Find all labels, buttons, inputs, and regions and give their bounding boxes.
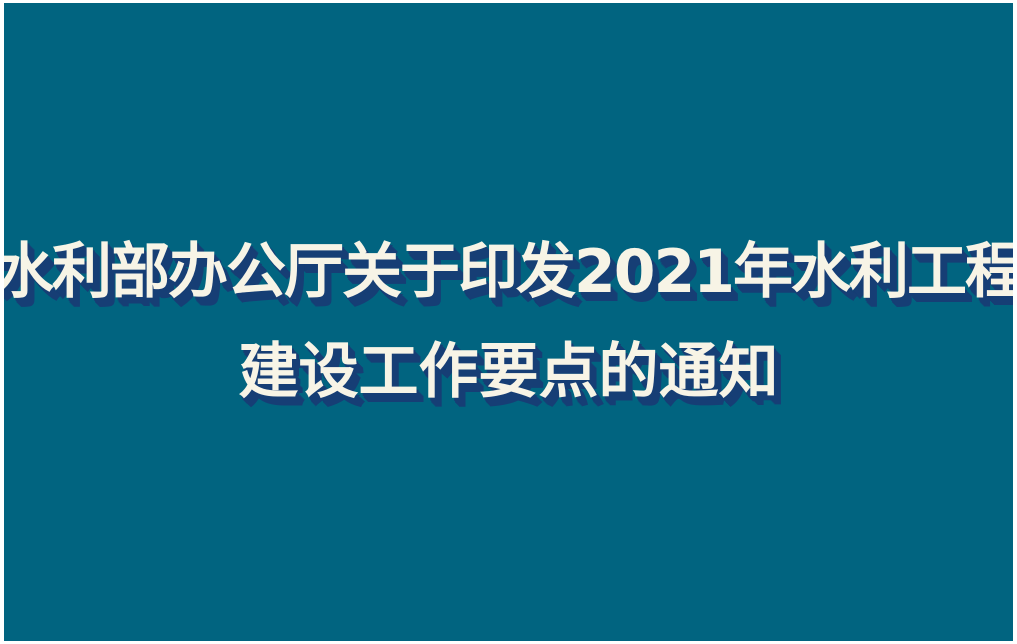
title-block: 水利部办公厅关于印发2021年水利工程 建设工作要点的通知 <box>4 3 1013 641</box>
poster-canvas: 水利部办公厅关于印发2021年水利工程 建设工作要点的通知 <box>4 3 1013 641</box>
title-line-1: 水利部办公厅关于印发2021年水利工程 <box>4 222 1013 322</box>
title-line-2: 建设工作要点的通知 <box>239 322 779 422</box>
